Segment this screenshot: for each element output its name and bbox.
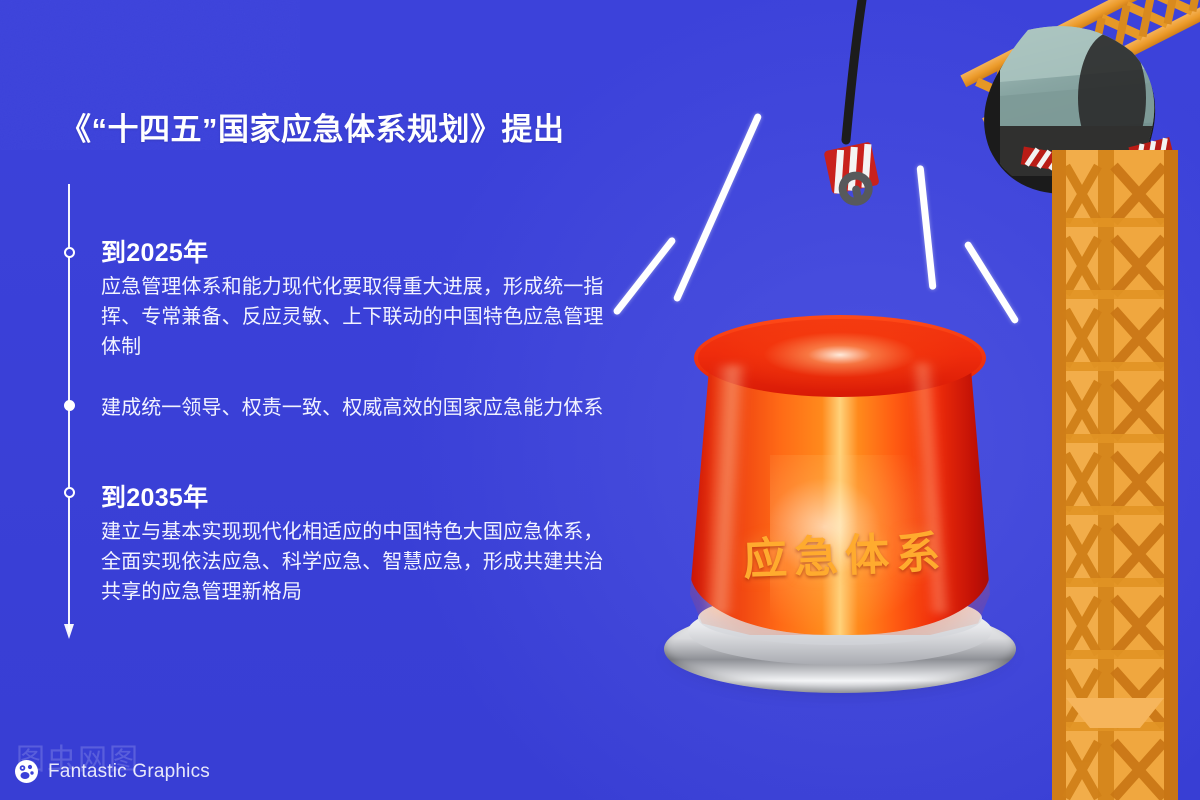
- infographic-canvas: 应急体系 《“十四五”国家应急体系规划》提出 到2025年 应急管理体系和能力现…: [0, 0, 1200, 800]
- milestone-heading: 到2035年: [101, 478, 621, 514]
- timeline-arrow-down-icon: [64, 624, 74, 639]
- milestone-body: 建成统一领导、权责一致、权威高效的国家应急能力体系: [101, 393, 621, 423]
- milestone-block-2025: 到2025年 应急管理体系和能力现代化要取得重大进展，形成统一指挥、专常兼备、反…: [101, 233, 621, 362]
- milestone-block-2035: 到2035年 建立与基本实现现代化相适应的中国特色大国应急体系，全面实现依法应急…: [101, 478, 621, 607]
- page-title: 《“十四五”国家应急体系规划》提出: [60, 104, 565, 149]
- milestone-body: 建立与基本实现现代化相适应的中国特色大国应急体系，全面实现依法应急、科学应急、智…: [101, 517, 621, 607]
- emergency-siren-light: 应急体系: [650, 305, 1040, 705]
- panda-logo-icon: [14, 759, 39, 784]
- watermark: Fantastic Graphics: [14, 759, 210, 784]
- crane-cable: [846, 0, 862, 140]
- timeline-axis: [64, 184, 74, 654]
- crane-hook-block: [824, 142, 883, 207]
- timeline-marker-2035: [64, 487, 75, 498]
- timeline-marker-capability: [64, 400, 75, 411]
- timeline-marker-2025: [64, 247, 75, 258]
- milestone-body: 应急管理体系和能力现代化要取得重大进展，形成统一指挥、专常兼备、反应灵敏、上下联…: [101, 272, 621, 362]
- milestone-heading: 到2025年: [101, 233, 621, 269]
- watermark-brand: Fantastic Graphics: [48, 761, 210, 783]
- crane-mast: [1052, 150, 1178, 800]
- milestone-block-capability: 建成统一领导、权责一致、权威高效的国家应急能力体系: [101, 393, 621, 423]
